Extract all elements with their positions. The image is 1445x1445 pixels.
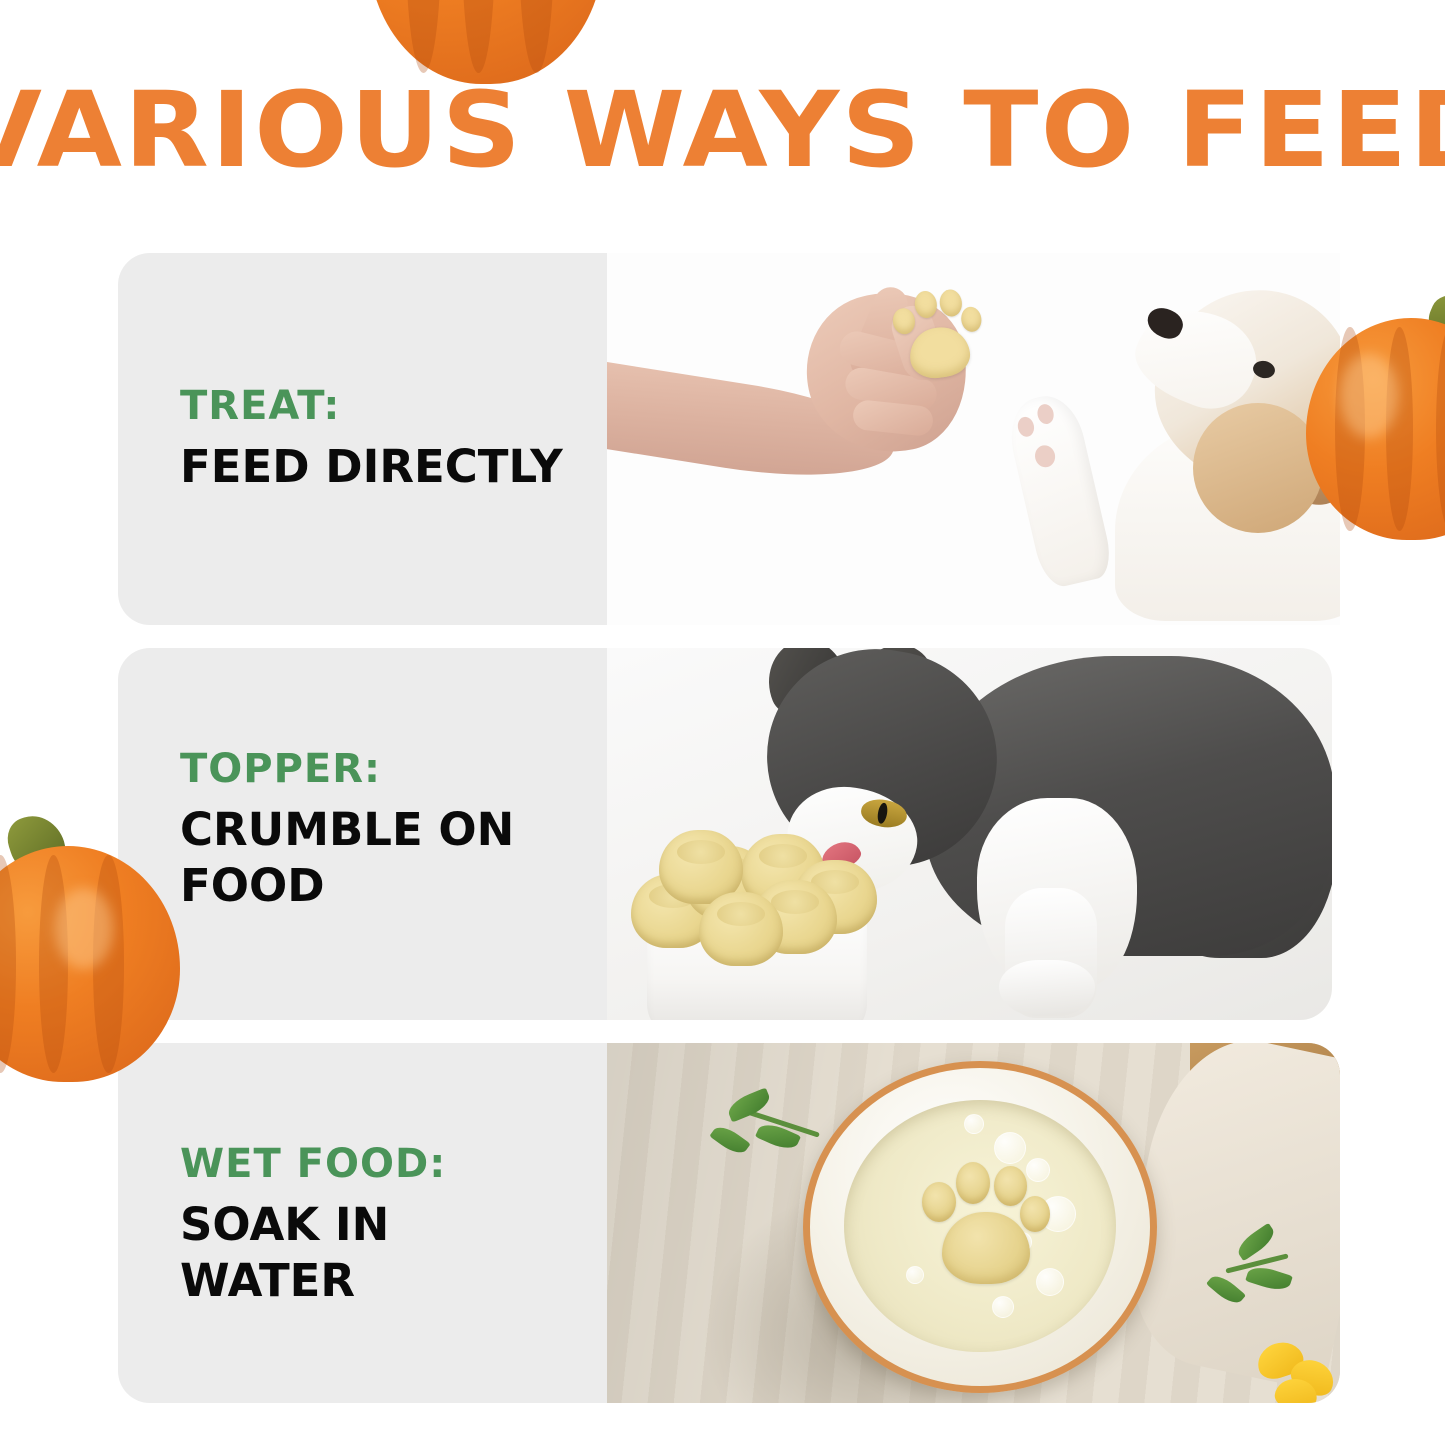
method-headline-3: SOAK IN WATER — [180, 1197, 610, 1309]
dog-paw — [1003, 389, 1116, 590]
pumpkin-rib — [1386, 327, 1413, 531]
pumpkin-highlight — [55, 888, 113, 968]
method-headline-1: FEED DIRECTLY — [180, 439, 600, 495]
soaking-paw-treat-icon — [920, 1160, 1052, 1288]
photo-cat-bowl — [607, 648, 1332, 1020]
paw-treat-icon — [883, 282, 987, 386]
dog — [997, 253, 1340, 603]
cat-front-paw — [999, 960, 1095, 1016]
method-row-3: WET FOOD: SOAK IN WATER — [118, 1043, 1340, 1403]
method-kicker-2: TOPPER: — [180, 744, 610, 794]
method-kicker-1: TREAT: — [180, 381, 600, 431]
photo-soak-dish — [607, 1043, 1340, 1403]
infographic-canvas: VARIOUS WAYS TO FEED TREAT: FEED DIRECTL… — [0, 0, 1445, 1445]
method-text-3: WET FOOD: SOAK IN WATER — [180, 1139, 610, 1309]
method-text-1: TREAT: FEED DIRECTLY — [180, 381, 600, 495]
page-title: VARIOUS WAYS TO FEED — [0, 78, 1445, 182]
method-headline-2: CRUMBLE ON FOOD — [180, 802, 610, 914]
dog-cheek — [1193, 403, 1323, 533]
pumpkin-highlight — [1340, 354, 1399, 438]
photo-dog-treat — [607, 253, 1340, 625]
treat-heap — [625, 816, 893, 940]
method-text-2: TOPPER: CRUMBLE ON FOOD — [180, 744, 610, 914]
method-row-1: TREAT: FEED DIRECTLY — [118, 253, 1340, 625]
method-row-2: TOPPER: CRUMBLE ON FOOD — [118, 648, 1332, 1020]
method-kicker-3: WET FOOD: — [180, 1139, 610, 1189]
pumpkin-left-icon — [0, 846, 180, 1082]
pumpkin-rib — [39, 855, 68, 1072]
dish-water — [844, 1100, 1116, 1352]
pumpkin-right-icon — [1306, 318, 1445, 540]
ceramic-dish — [803, 1061, 1157, 1393]
